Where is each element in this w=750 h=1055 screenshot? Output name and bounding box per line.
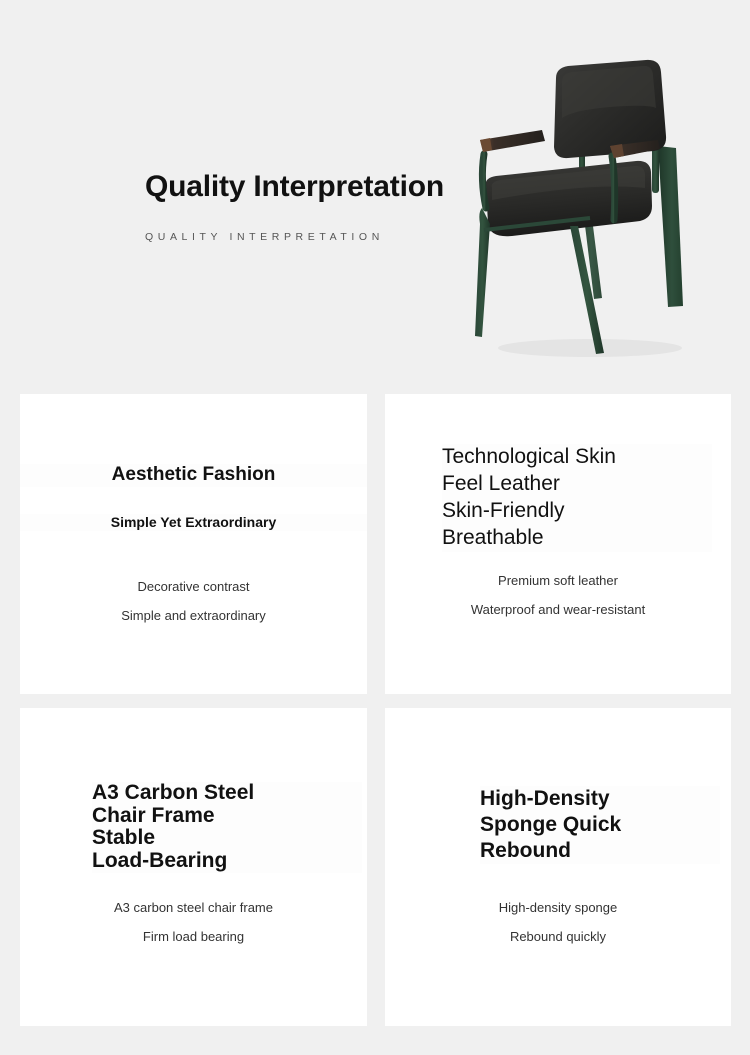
feature-card-title-line: A3 Carbon Steel [92, 781, 254, 804]
feature-card-description: A3 carbon steel chair frame Firm load be… [20, 901, 367, 945]
feature-card-title-line: Feel Leather [442, 472, 560, 495]
feature-card-title: Technological Skin Feel Leather Skin-Fri… [442, 444, 712, 552]
feature-card-high-density-sponge[interactable]: High-Density Sponge Quick Rebound High-d… [385, 708, 731, 1026]
feature-card-title-line: Load-Bearing [92, 849, 227, 872]
chair-illustration [440, 48, 740, 373]
feature-card-description-line: Premium soft leather [385, 574, 731, 589]
page-subtitle: QUALITY INTERPRETATION [145, 231, 475, 243]
chair-rear-right-leg [658, 146, 683, 307]
feature-card-title-line: Technological Skin [442, 445, 616, 468]
chair-floor-shadow [498, 339, 682, 357]
feature-card-description-line: Simple and extraordinary [20, 609, 367, 624]
feature-card-title-line: Breathable [442, 526, 544, 549]
feature-card-carbon-steel-frame[interactable]: A3 Carbon Steel Chair Frame Stable Load-… [20, 708, 367, 1026]
page-title: Quality Interpretation [145, 170, 475, 203]
feature-card-title-line: Chair Frame [92, 804, 215, 827]
chair-product-image [440, 48, 740, 373]
feature-card-title-line: Skin-Friendly [442, 499, 565, 522]
chair-left-armrest-endcap [480, 138, 492, 152]
feature-card-description-line: A3 carbon steel chair frame [20, 901, 367, 916]
feature-card-description: Premium soft leather Waterproof and wear… [385, 574, 731, 618]
feature-card-title-line: Sponge Quick [480, 813, 621, 836]
feature-card-title: Aesthetic Fashion [20, 464, 367, 487]
feature-card-title-line: Rebound [480, 839, 571, 862]
feature-card-aesthetic-fashion[interactable]: Aesthetic Fashion Simple Yet Extraordina… [20, 394, 367, 694]
hero-section: Quality Interpretation QUALITY INTERPRET… [0, 0, 750, 380]
hero-text-block: Quality Interpretation QUALITY INTERPRET… [145, 170, 475, 243]
feature-card-title: High-Density Sponge Quick Rebound [480, 786, 720, 864]
feature-card-title: A3 Carbon Steel Chair Frame Stable Load-… [92, 782, 362, 873]
chair-right-arm-support [612, 156, 615, 220]
feature-card-description-line: Firm load bearing [20, 930, 367, 945]
chair-front-left-leg [475, 208, 490, 337]
feature-card-description: High-density sponge Rebound quickly [385, 901, 731, 945]
quality-interpretation-page: Quality Interpretation QUALITY INTERPRET… [0, 0, 750, 1055]
feature-card-description: Decorative contrast Simple and extraordi… [20, 580, 367, 624]
feature-card-title-line: Stable [92, 826, 155, 849]
feature-card-title-line: High-Density [480, 787, 610, 810]
feature-card-description-line: High-density sponge [385, 901, 731, 916]
feature-card-description-line: Decorative contrast [20, 580, 367, 595]
feature-card-description-line: Waterproof and wear-resistant [385, 603, 731, 618]
feature-card-skin-feel-leather[interactable]: Technological Skin Feel Leather Skin-Fri… [385, 394, 731, 694]
feature-card-subtitle: Simple Yet Extraordinary [20, 514, 367, 531]
feature-card-description-line: Rebound quickly [385, 930, 731, 945]
chair-left-arm-support [482, 154, 486, 208]
